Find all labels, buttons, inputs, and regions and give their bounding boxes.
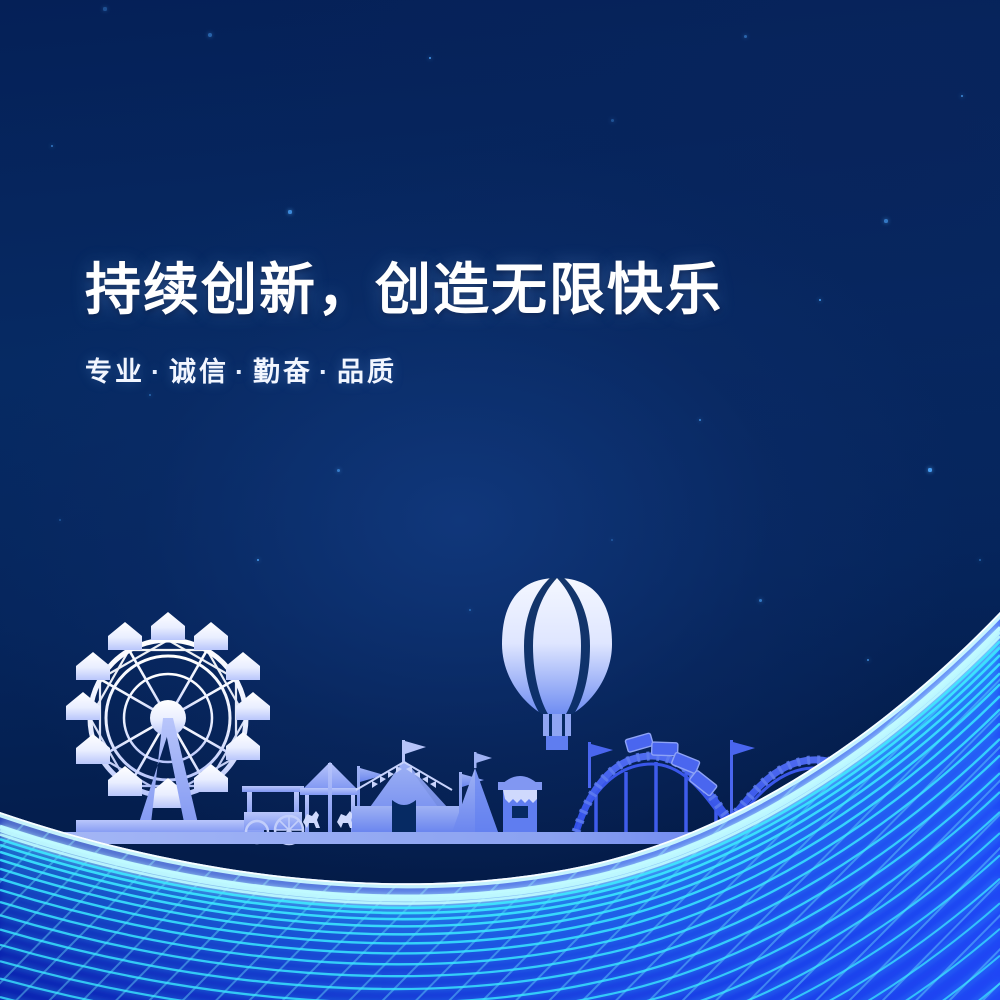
keyword-separator: · bbox=[313, 357, 337, 388]
small-circus-tent-icon bbox=[452, 752, 498, 832]
keyword-2: 勤奋 bbox=[253, 357, 313, 387]
value-keywords: 专业 · 诚信 · 勤奋 · 品质 bbox=[85, 350, 885, 389]
glowing-mesh-wave bbox=[0, 560, 1000, 1000]
keyword-separator: · bbox=[145, 357, 169, 388]
page-title: 持续创新，创造无限快乐 bbox=[85, 258, 885, 322]
carousel-icon bbox=[300, 762, 360, 832]
scene-artwork bbox=[0, 0, 1000, 1000]
hero-copy: 持续创新，创造无限快乐 专业 · 诚信 · 勤奋 · 品质 bbox=[85, 258, 885, 389]
keyword-separator: · bbox=[229, 357, 253, 388]
keyword-1: 诚信 bbox=[169, 357, 229, 387]
keyword-3: 品质 bbox=[337, 357, 397, 387]
ticket-booth-icon bbox=[498, 776, 542, 832]
circus-big-top-tent-icon bbox=[352, 740, 470, 832]
hot-air-balloon-icon bbox=[502, 578, 612, 750]
keyword-0: 专业 bbox=[85, 357, 145, 387]
banner-canvas: 持续创新，创造无限快乐 专业 · 诚信 · 勤奋 · 品质 bbox=[0, 0, 1000, 1000]
